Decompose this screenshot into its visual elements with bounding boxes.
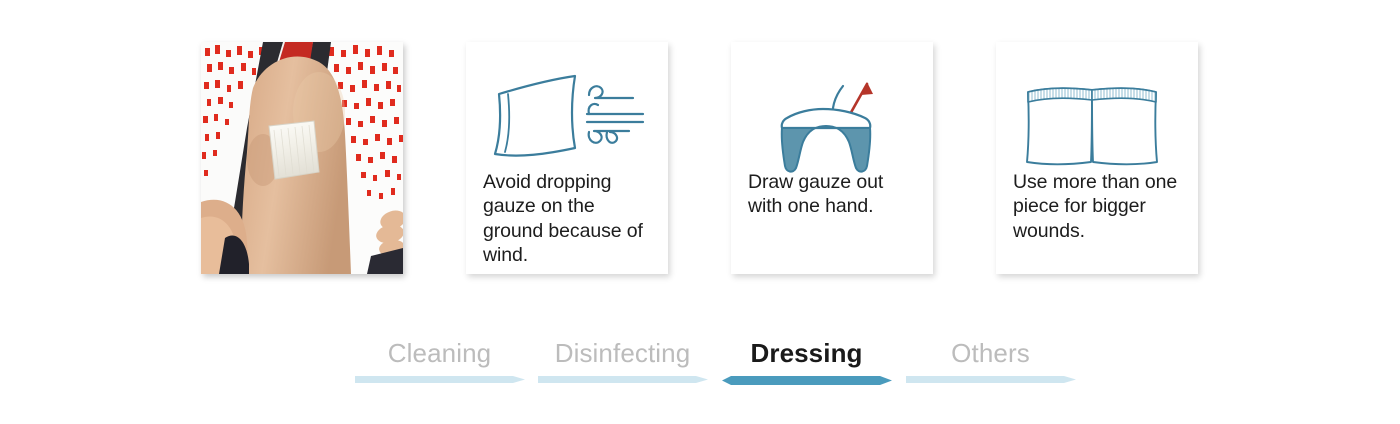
step-disinfecting[interactable]: Disinfecting (515, 336, 730, 384)
hand-drawing-gauze-icon (757, 62, 907, 182)
card-caption: Use more than one piece for bigger wound… (1013, 170, 1185, 243)
step-label: Others (883, 336, 1098, 370)
card-caption: Draw gauze out with one hand. (748, 170, 920, 219)
step-dressing[interactable]: Dressing (699, 336, 914, 384)
card-photo-gauze-on-arm[interactable] (201, 42, 403, 274)
two-gauze-pieces-icon (1022, 78, 1172, 178)
step-bar-inactive (906, 375, 1076, 384)
gauze-sheet-wind-icon (477, 70, 657, 180)
icon-zone (996, 42, 1198, 170)
card-more-pieces[interactable]: Use more than one piece for bigger wound… (996, 42, 1198, 274)
step-bar-inactive (538, 375, 708, 384)
step-label: Dressing (699, 336, 914, 370)
cards-row: Avoid dropping gauze on the ground becau… (0, 42, 1400, 274)
steps-progress: Cleaning Disinfecting Dressing Others (0, 336, 1400, 396)
step-others[interactable]: Others (883, 336, 1098, 384)
step-label: Disinfecting (515, 336, 730, 370)
photo-gauze-on-arm (201, 42, 403, 274)
step-bar-inactive (355, 375, 525, 384)
icon-zone (466, 42, 668, 170)
icon-zone (731, 42, 933, 170)
card-caption: Avoid dropping gauze on the ground becau… (483, 170, 655, 268)
card-avoid-dropping[interactable]: Avoid dropping gauze on the ground becau… (466, 42, 668, 274)
step-bar-active (722, 375, 892, 384)
card-draw-gauze[interactable]: Draw gauze out with one hand. (731, 42, 933, 274)
